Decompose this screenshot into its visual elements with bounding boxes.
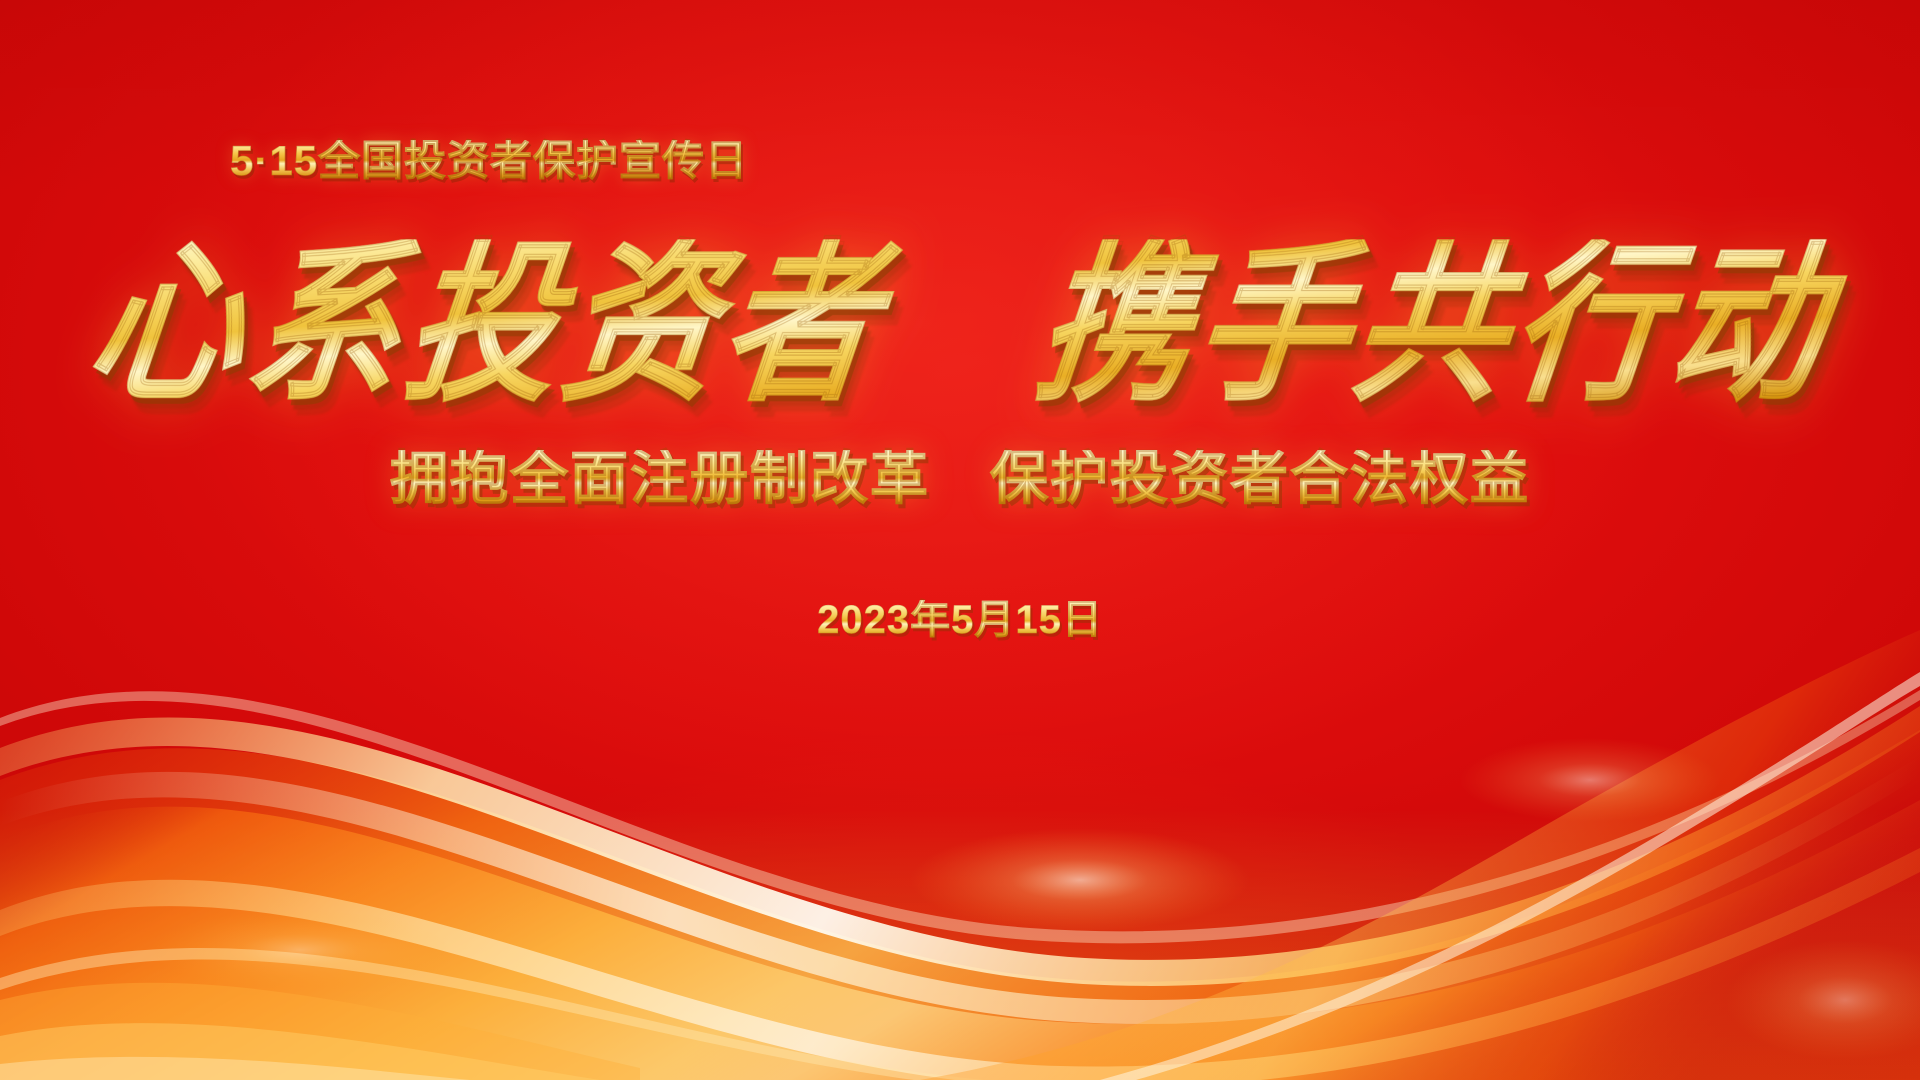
poster-date: 2023年5月15日 [0,600,1920,640]
poster-text-content: 5·15全国投资者保护宣传日 心系投资者 携手共行动 拥抱全面注册制改革 保护投… [0,0,1920,1080]
poster-canvas: 5·15全国投资者保护宣传日 心系投资者 携手共行动 拥抱全面注册制改革 保护投… [0,0,1920,1080]
poster-main-slogan: 心系投资者 携手共行动 [0,239,1920,412]
campaign-day-label: 5·15全国投资者保护宣传日 [230,140,748,182]
poster-sub-slogan: 拥抱全面注册制改革 保护投资者合法权益 [0,450,1920,508]
